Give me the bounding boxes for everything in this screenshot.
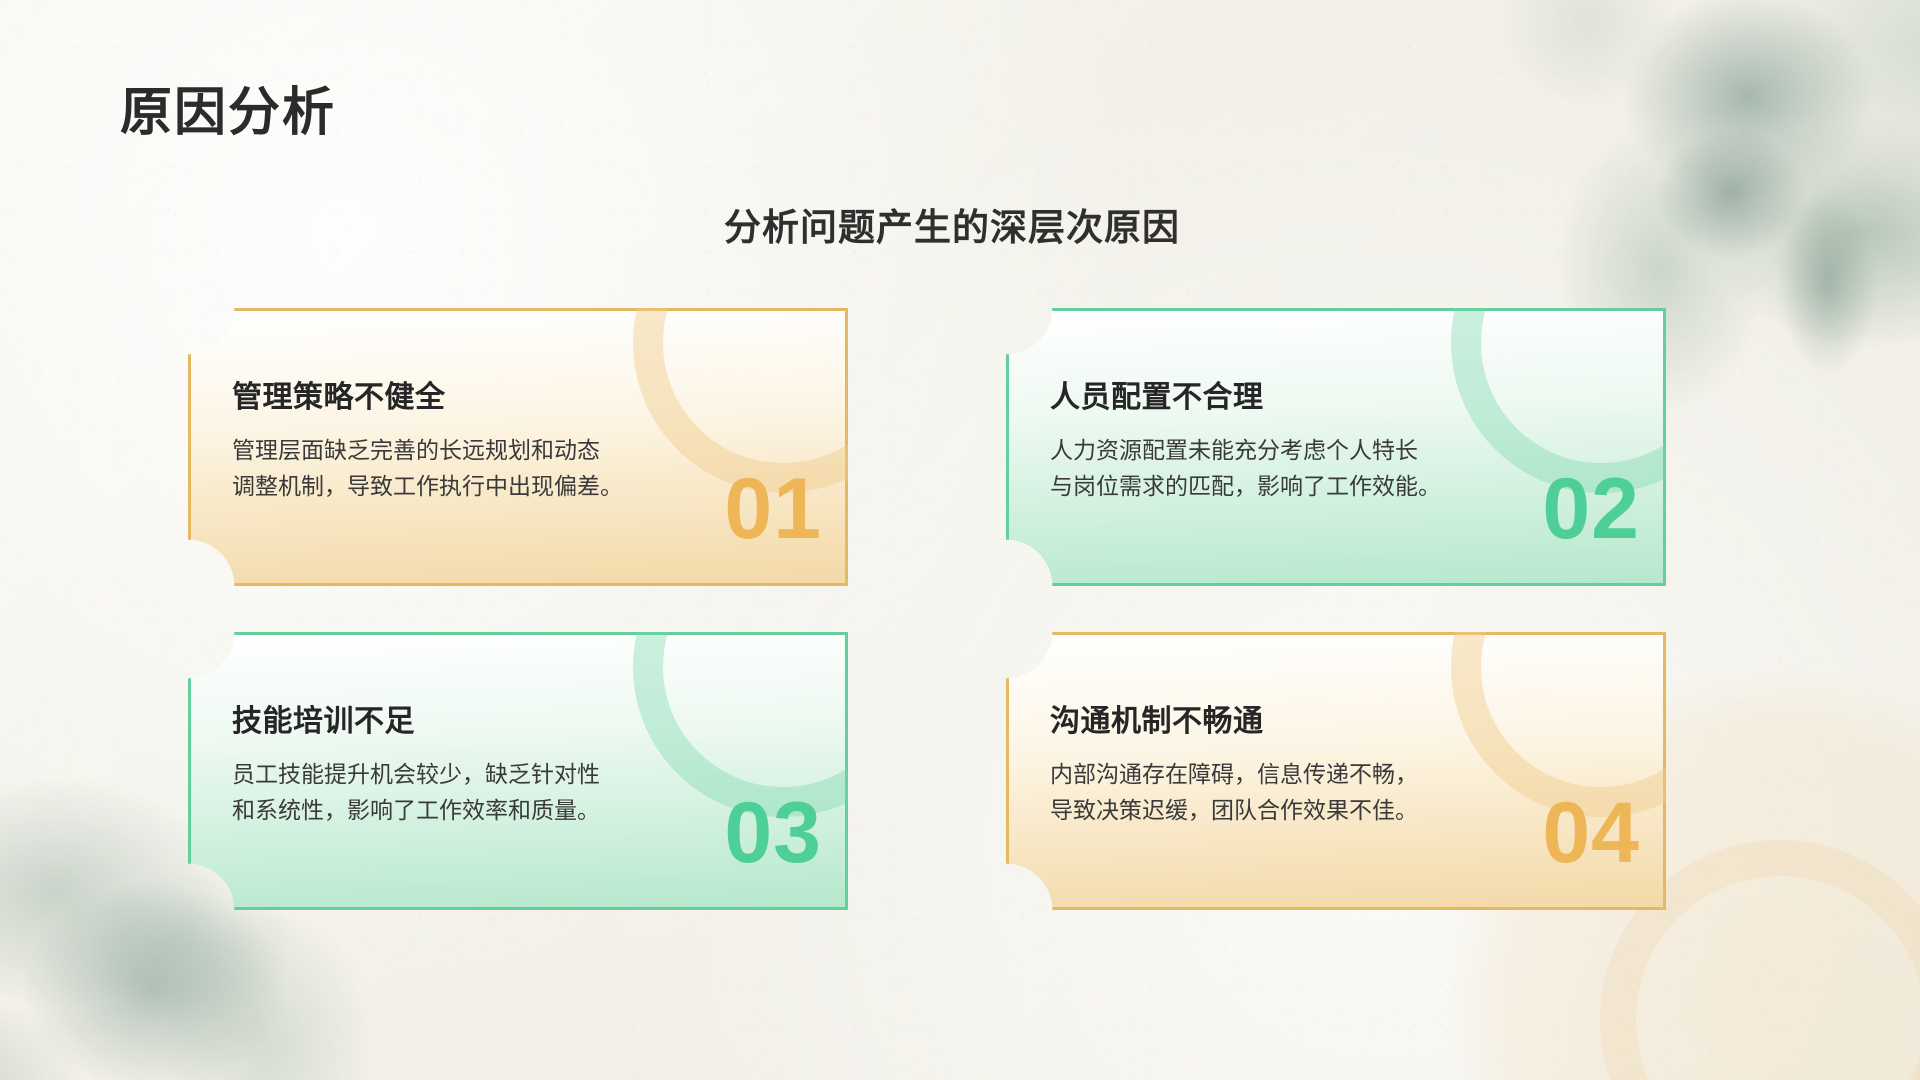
reason-card-03[interactable]: 技能培训不足 员工技能提升机会较少，缺乏针对性 和系统性，影响了工作效率和质量。… [188, 632, 848, 910]
card-title: 管理策略不健全 [232, 372, 848, 416]
reason-card-02[interactable]: 人员配置不合理 人力资源配置未能充分考虑个人特长 与岗位需求的匹配，影响了工作效… [1006, 308, 1666, 586]
reason-card-01[interactable]: 管理策略不健全 管理层面缺乏完善的长远规划和动态 调整机制，导致工作执行中出现偏… [188, 308, 848, 586]
page-title: 原因分析 [120, 70, 336, 145]
card-number-badge: 01 [724, 466, 822, 552]
card-description: 员工技能提升机会较少，缺乏针对性 和系统性，影响了工作效率和质量。 [232, 757, 652, 828]
card-description: 人力资源配置未能充分考虑个人特长 与岗位需求的匹配，影响了工作效能。 [1050, 433, 1470, 504]
card-number-badge: 04 [1542, 790, 1640, 876]
reason-card-04[interactable]: 沟通机制不畅通 内部沟通存在障碍，信息传递不畅， 导致决策迟缓，团队合作效果不佳… [1006, 632, 1666, 910]
card-title: 技能培训不足 [232, 696, 848, 740]
slide-subtitle: 分析问题产生的深层次原因 [0, 197, 1912, 251]
card-number-badge: 03 [724, 790, 822, 876]
card-description: 管理层面缺乏完善的长远规划和动态 调整机制，导致工作执行中出现偏差。 [232, 433, 652, 504]
reason-card-grid: 管理策略不健全 管理层面缺乏完善的长远规划和动态 调整机制，导致工作执行中出现偏… [188, 308, 1728, 910]
slide-canvas: 原因分析 分析问题产生的深层次原因 管理策略不健全 管理层面缺乏完善的长远规划和… [0, 0, 1920, 1080]
card-number-badge: 02 [1542, 466, 1640, 552]
card-title: 沟通机制不畅通 [1050, 696, 1666, 740]
card-description: 内部沟通存在障碍，信息传递不畅， 导致决策迟缓，团队合作效果不佳。 [1050, 757, 1470, 828]
card-title: 人员配置不合理 [1050, 372, 1666, 416]
